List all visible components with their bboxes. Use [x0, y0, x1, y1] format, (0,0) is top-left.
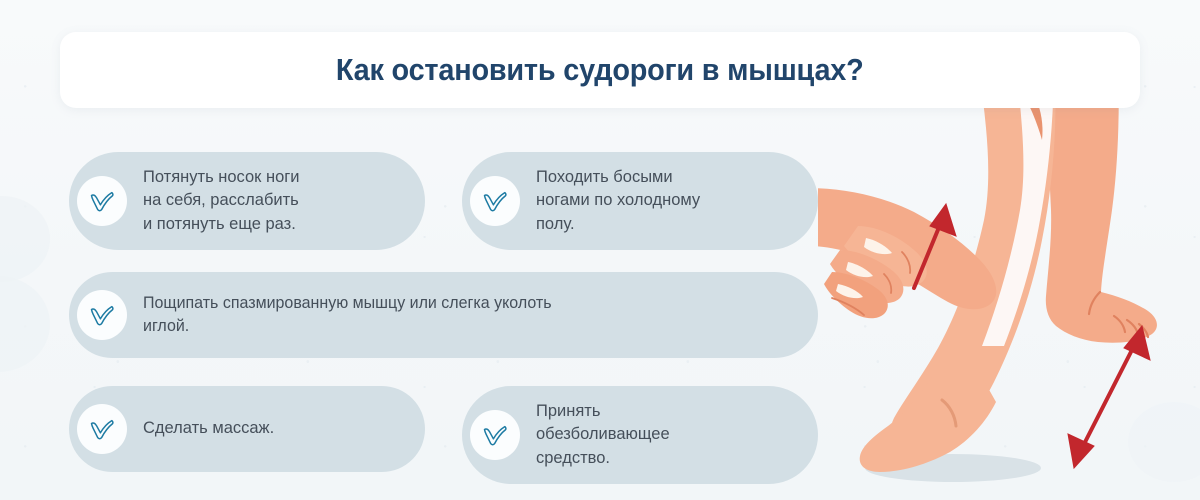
tip-text: Потянуть носок ноги на себя, расслабить …	[143, 166, 300, 236]
tip-card-stretch-toe: Потянуть носок ноги на себя, расслабить …	[69, 152, 425, 250]
check-outline-icon	[470, 176, 520, 226]
check-outline-icon	[77, 404, 127, 454]
tip-text: Походить босыми ногами по холодному полу…	[536, 166, 700, 236]
page-title: Как остановить судороги в мышцах?	[336, 52, 864, 88]
check-outline-icon	[470, 410, 520, 460]
back-leg	[1046, 70, 1157, 343]
check-outline-icon	[77, 176, 127, 226]
tip-text: Принять обезболивающее средство.	[536, 400, 670, 470]
background-blob	[0, 196, 50, 282]
check-outline-icon	[77, 290, 127, 340]
infographic-canvas: Как остановить судороги в мышцах? Потяну…	[0, 0, 1200, 500]
tip-text: Пощипать спазмированную мышцу или слегка…	[143, 292, 552, 339]
title-bar: Как остановить судороги в мышцах?	[60, 32, 1140, 108]
tip-card-pinch: Пощипать спазмированную мышцу или слегка…	[69, 272, 818, 358]
tip-card-cold-floor: Походить босыми ногами по холодному полу…	[462, 152, 818, 250]
double-arrow	[1068, 326, 1150, 468]
tip-text: Сделать массаж.	[143, 417, 274, 440]
tip-card-massage: Сделать массаж.	[69, 386, 425, 472]
background-blob	[0, 276, 50, 372]
tip-card-painkiller: Принять обезболивающее средство.	[462, 386, 818, 484]
hands-stretching-foot-illustration	[818, 70, 1200, 500]
